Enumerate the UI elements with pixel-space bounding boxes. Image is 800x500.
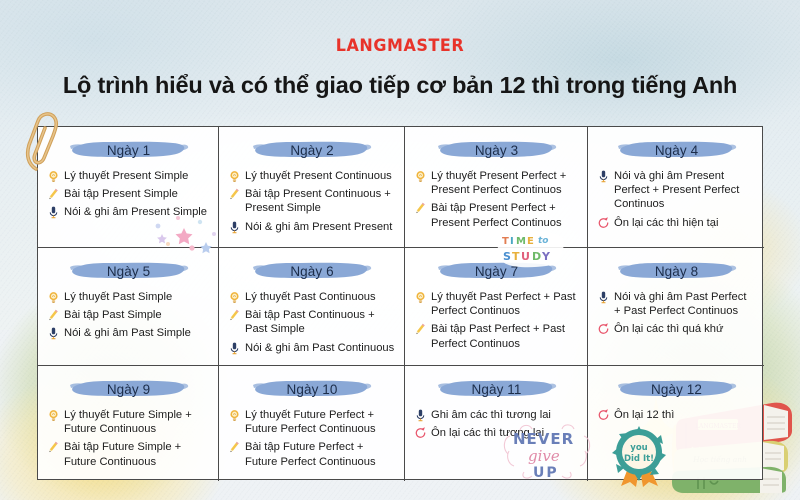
day-cell-8: Ngày 8Nói và ghi âm Past Perfect + Past … xyxy=(588,248,764,366)
day-cell-5: Ngày 5Lý thuyết Past SimpleBài tập Past … xyxy=(38,248,219,366)
microphone-icon xyxy=(47,326,60,340)
day-banner: Ngày 4 xyxy=(617,138,737,162)
microphone-icon xyxy=(47,205,60,219)
task-item: Lý thuyết Future Perfect + Future Perfec… xyxy=(228,408,396,436)
day-label: Ngày 3 xyxy=(475,143,518,158)
microphone-icon xyxy=(597,169,610,183)
task-item: Nói & ghi âm Past Continuous xyxy=(228,341,396,355)
task-list: Nói và ghi âm Past Perfect + Past Perfec… xyxy=(597,290,756,337)
task-item: Lý thuyết Present Perfect + Present Perf… xyxy=(414,169,579,197)
task-text: Nói và ghi âm Present Perfect + Present … xyxy=(614,169,756,212)
refresh-icon xyxy=(414,426,427,440)
paperclip-icon xyxy=(22,112,62,179)
task-list: Nói và ghi âm Present Perfect + Present … xyxy=(597,169,756,230)
task-list: Lý thuyết Future Simple + Future Continu… xyxy=(47,408,210,469)
lightbulb-icon xyxy=(228,408,241,422)
task-item: Bài tập Future Simple + Future Continuou… xyxy=(47,440,210,468)
day-banner: Ngày 8 xyxy=(617,259,737,283)
day-cell-12: Ngày 12Ôn lại 12 thì xyxy=(588,366,764,481)
refresh-icon xyxy=(597,322,610,336)
task-item: Lý thuyết Future Simple + Future Continu… xyxy=(47,408,210,436)
day-label: Ngày 5 xyxy=(107,264,150,279)
refresh-icon xyxy=(597,408,610,422)
pencil-icon xyxy=(47,440,60,454)
pencil-icon xyxy=(47,308,60,322)
day-banner: Ngày 10 xyxy=(252,377,372,401)
task-item: Bài tập Future Perfect + Future Perfect … xyxy=(228,440,396,468)
task-item: Lý thuyết Present Continuous xyxy=(228,169,396,183)
task-text: Nói & ghi âm Past Simple xyxy=(64,326,210,340)
day-banner: Ngày 3 xyxy=(437,138,557,162)
day-cell-6: Ngày 6Lý thuyết Past ContinuousBài tập P… xyxy=(219,248,405,366)
task-item: Nói & ghi âm Present Simple xyxy=(47,205,210,219)
task-item: Ôn lại các thì tương lai xyxy=(414,426,579,440)
task-text: Bài tập Present Simple xyxy=(64,187,210,201)
task-item: Ôn lại 12 thì xyxy=(597,408,756,422)
day-banner: Ngày 6 xyxy=(252,259,372,283)
task-item: Bài tập Past Continuous + Past Simple xyxy=(228,308,396,336)
task-list: Lý thuyết Past Perfect + Past Perfect Co… xyxy=(414,290,579,351)
day-cell-11: Ngày 11Ghi âm các thì tương laiÔn lại cá… xyxy=(405,366,588,481)
task-text: Lý thuyết Past Simple xyxy=(64,290,210,304)
day-cell-7: Ngày 7Lý thuyết Past Perfect + Past Perf… xyxy=(405,248,588,366)
task-item: Bài tập Present Perfect + Present Perfec… xyxy=(414,201,579,229)
lightbulb-icon xyxy=(414,290,427,304)
task-item: Lý thuyết Past Perfect + Past Perfect Co… xyxy=(414,290,579,318)
task-text: Ôn lại các thì tương lai xyxy=(431,426,579,440)
task-text: Nói và ghi âm Past Perfect + Past Perfec… xyxy=(614,290,756,318)
day-label: Ngày 8 xyxy=(655,264,698,279)
task-item: Bài tập Past Perfect + Past Perfect Cont… xyxy=(414,322,579,350)
task-text: Nói & ghi âm Past Continuous xyxy=(245,341,396,355)
day-cell-2: Ngày 2Lý thuyết Present ContinuousBài tậ… xyxy=(219,127,405,248)
day-banner: Ngày 5 xyxy=(69,259,189,283)
task-list: Ôn lại 12 thì xyxy=(597,408,756,422)
task-item: Lý thuyết Past Simple xyxy=(47,290,210,304)
day-label: Ngày 11 xyxy=(472,382,522,397)
day-cell-4: Ngày 4Nói và ghi âm Present Perfect + Pr… xyxy=(588,127,764,248)
lightbulb-icon xyxy=(47,408,60,422)
day-banner: Ngày 12 xyxy=(617,377,737,401)
task-item: Nói và ghi âm Present Perfect + Present … xyxy=(597,169,756,212)
task-text: Ôn lại các thì quá khứ xyxy=(614,322,756,336)
brand-logo: LANGMASTER xyxy=(24,36,776,56)
task-item: Bài tập Present Continuous + Present Sim… xyxy=(228,187,396,215)
pencil-icon xyxy=(228,308,241,322)
day-banner: Ngày 11 xyxy=(437,377,557,401)
day-label: Ngày 1 xyxy=(107,143,150,158)
lightbulb-icon xyxy=(228,290,241,304)
task-text: Lý thuyết Past Continuous xyxy=(245,290,396,304)
task-text: Bài tập Present Perfect + Present Perfec… xyxy=(431,201,579,229)
task-item: Ôn lại các thì quá khứ xyxy=(597,322,756,336)
day-label: Ngày 7 xyxy=(475,264,518,279)
pencil-icon xyxy=(414,201,427,215)
pencil-icon xyxy=(47,187,60,201)
task-item: Lý thuyết Past Continuous xyxy=(228,290,396,304)
pencil-icon xyxy=(228,187,241,201)
task-text: Bài tập Future Simple + Future Continuou… xyxy=(64,440,210,468)
task-item: Lý thuyết Present Simple xyxy=(47,169,210,183)
task-text: Lý thuyết Future Perfect + Future Perfec… xyxy=(245,408,396,436)
pencil-icon xyxy=(228,440,241,454)
day-banner: Ngày 9 xyxy=(69,377,189,401)
task-list: Lý thuyết Future Perfect + Future Perfec… xyxy=(228,408,396,469)
task-text: Bài tập Past Perfect + Past Perfect Cont… xyxy=(431,322,579,350)
task-list: Lý thuyết Present Perfect + Present Perf… xyxy=(414,169,579,230)
task-text: Lý thuyết Past Perfect + Past Perfect Co… xyxy=(431,290,579,318)
task-item: Nói & ghi âm Past Simple xyxy=(47,326,210,340)
microphone-icon xyxy=(228,341,241,355)
task-text: Lý thuyết Present Continuous xyxy=(245,169,396,183)
task-item: Nói và ghi âm Past Perfect + Past Perfec… xyxy=(597,290,756,318)
task-item: Ôn lại các thì hiện tại xyxy=(597,216,756,230)
task-text: Ôn lại 12 thì xyxy=(614,408,756,422)
microphone-icon xyxy=(228,220,241,234)
pencil-icon xyxy=(414,322,427,336)
task-item: Ghi âm các thì tương lai xyxy=(414,408,579,422)
day-label: Ngày 4 xyxy=(655,143,698,158)
day-label: Ngày 9 xyxy=(107,382,150,397)
task-list: Lý thuyết Present SimpleBài tập Present … xyxy=(47,169,210,220)
task-item: Bài tập Past Simple xyxy=(47,308,210,322)
day-label: Ngày 10 xyxy=(287,382,338,397)
lightbulb-icon xyxy=(47,290,60,304)
task-text: Nói & ghi âm Present Simple xyxy=(64,205,210,219)
page-title: Lộ trình hiểu và có thể giao tiếp cơ bản… xyxy=(0,72,800,99)
lightbulb-icon xyxy=(228,169,241,183)
task-list: Lý thuyết Present ContinuousBài tập Pres… xyxy=(228,169,396,234)
day-cell-3: Ngày 3Lý thuyết Present Perfect + Presen… xyxy=(405,127,588,248)
day-label: Ngày 6 xyxy=(290,264,333,279)
day-label: Ngày 2 xyxy=(290,143,333,158)
task-text: Bài tập Past Continuous + Past Simple xyxy=(245,308,396,336)
task-text: Ghi âm các thì tương lai xyxy=(431,408,579,422)
task-list: Lý thuyết Past SimpleBài tập Past Simple… xyxy=(47,290,210,341)
task-item: Bài tập Present Simple xyxy=(47,187,210,201)
day-cell-10: Ngày 10Lý thuyết Future Perfect + Future… xyxy=(219,366,405,481)
task-item: Nói & ghi âm Present Present xyxy=(228,220,396,234)
day-banner: Ngày 7 xyxy=(437,259,557,283)
day-label: Ngày 12 xyxy=(651,382,702,397)
refresh-icon xyxy=(597,216,610,230)
task-list: Ghi âm các thì tương laiÔn lại các thì t… xyxy=(414,408,579,440)
task-text: Bài tập Future Perfect + Future Perfect … xyxy=(245,440,396,468)
microphone-icon xyxy=(597,290,610,304)
task-text: Ôn lại các thì hiện tại xyxy=(614,216,756,230)
task-text: Nói & ghi âm Present Present xyxy=(245,220,396,234)
task-text: Lý thuyết Future Simple + Future Continu… xyxy=(64,408,210,436)
day-cell-1: Ngày 1Lý thuyết Present SimpleBài tập Pr… xyxy=(38,127,219,248)
task-text: Bài tập Present Continuous + Present Sim… xyxy=(245,187,396,215)
task-text: Bài tập Past Simple xyxy=(64,308,210,322)
day-banner: Ngày 1 xyxy=(69,138,189,162)
roadmap-table: Ngày 1Lý thuyết Present SimpleBài tập Pr… xyxy=(37,126,763,480)
microphone-icon xyxy=(414,408,427,422)
day-banner: Ngày 2 xyxy=(252,138,372,162)
task-text: Lý thuyết Present Simple xyxy=(64,169,210,183)
day-cell-9: Ngày 9Lý thuyết Future Simple + Future C… xyxy=(38,366,219,481)
task-list: Lý thuyết Past ContinuousBài tập Past Co… xyxy=(228,290,396,355)
lightbulb-icon xyxy=(414,169,427,183)
task-text: Lý thuyết Present Perfect + Present Perf… xyxy=(431,169,579,197)
